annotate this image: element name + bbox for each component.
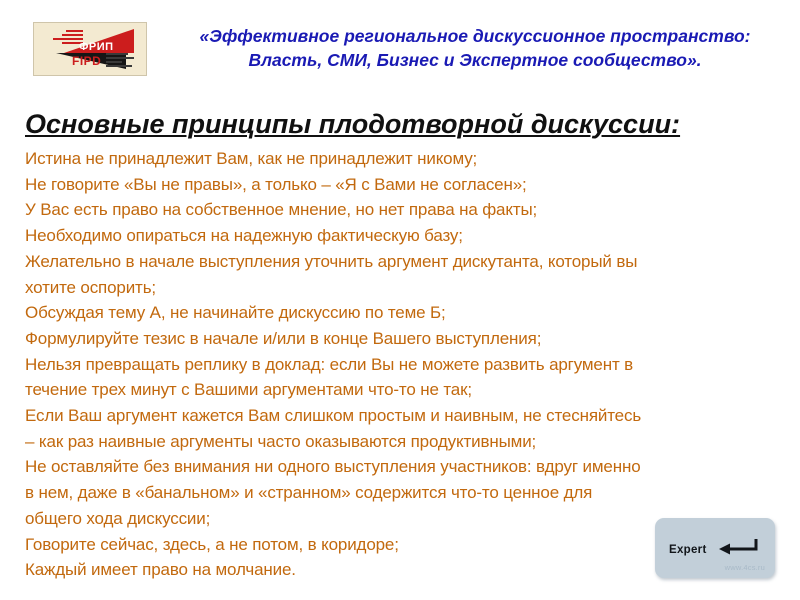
fipd-logo-graphic: ФРИП FIPD [34,23,146,75]
principle-line: в нем, даже в «банальном» и «странном» с… [25,480,725,506]
enter-arrow-icon [716,537,760,562]
principle-line: Обсуждая тему А, не начинайте дискуссию … [25,300,725,326]
expert-url: www.4cs.ru [725,563,765,572]
slide-canvas: ФРИП FIPD «Эффективное региональное диск… [0,0,800,600]
principle-line: течение трех минут с Вашими аргументами … [25,377,725,403]
principle-line: Говорите сейчас, здесь, а не потом, в ко… [25,532,725,558]
title-line-1: «Эффективное региональное дискуссионное … [160,24,790,48]
presentation-title: «Эффективное региональное дискуссионное … [160,24,790,72]
title-line-2: Власть, СМИ, Бизнес и Экспертное сообщес… [160,48,790,72]
principle-line: Формулируйте тезис в начале и/или в конц… [25,326,725,352]
svg-text:ФРИП: ФРИП [79,41,114,53]
principle-line: Нельзя превращать реплику в доклад: если… [25,352,725,378]
slide-header: ФРИП FIPD «Эффективное региональное диск… [0,0,800,96]
principle-line: Не оставляйте без внимания ни одного выс… [25,454,725,480]
principles-list: Истина не принадлежит Вам, как не принад… [25,146,725,583]
expert-badge[interactable]: Expert www.4cs.ru [655,518,775,578]
principle-line: хотите оспорить; [25,275,725,301]
svg-text:FIPD: FIPD [72,54,101,68]
principle-line: Если Ваш аргумент кажется Вам слишком пр… [25,403,725,429]
principle-line: Истина не принадлежит Вам, как не принад… [25,146,725,172]
principle-line: Необходимо опираться на надежную фактиче… [25,223,725,249]
principle-line: У Вас есть право на собственное мнение, … [25,197,725,223]
principle-line: общего хода дискуссии; [25,506,725,532]
principle-line: Каждый имеет право на молчание. [25,557,725,583]
expert-badge-row: Expert [669,537,760,562]
principle-line: – как раз наивные аргументы часто оказыв… [25,429,725,455]
principle-line: Желательно в начале выступления уточнить… [25,249,725,275]
expert-label: Expert [669,544,707,556]
fipd-logo: ФРИП FIPD [33,22,147,76]
principle-line: Не говорите «Вы не правы», а только – «Я… [25,172,725,198]
section-heading: Основные принципы плодотворной дискуссии… [25,108,680,141]
